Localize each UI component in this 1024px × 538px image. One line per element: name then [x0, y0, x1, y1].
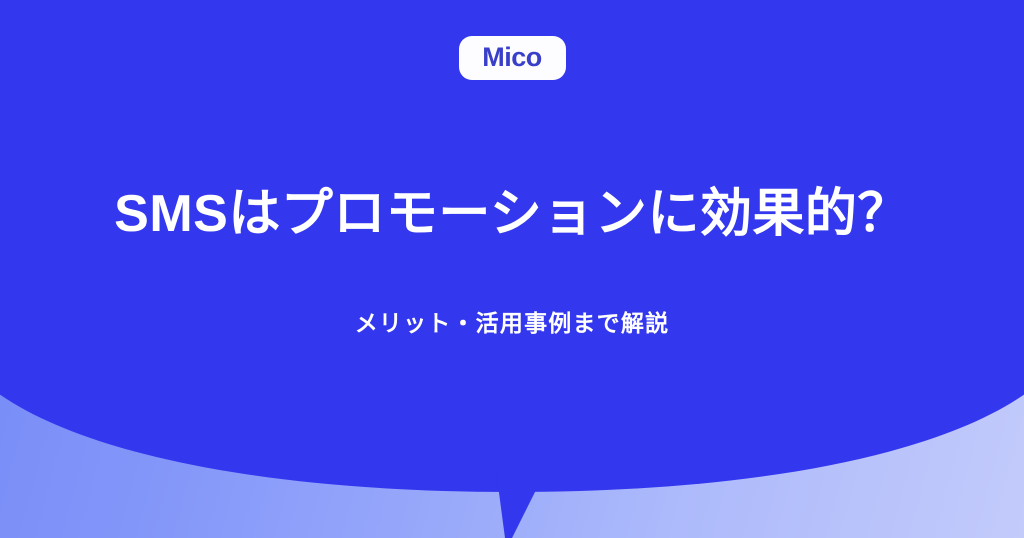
logo-badge[interactable]: Mico [459, 36, 566, 80]
banner-content: Mico SMSはプロモーションに効果的？ メリット・活用事例まで解説 [0, 0, 1024, 538]
logo-label: Mico [482, 44, 542, 71]
page-subtitle: メリット・活用事例まで解説 [355, 304, 670, 338]
banner-canvas: Mico SMSはプロモーションに効果的？ メリット・活用事例まで解説 [0, 0, 1024, 538]
page-title: SMSはプロモーションに効果的？ [114, 184, 910, 245]
